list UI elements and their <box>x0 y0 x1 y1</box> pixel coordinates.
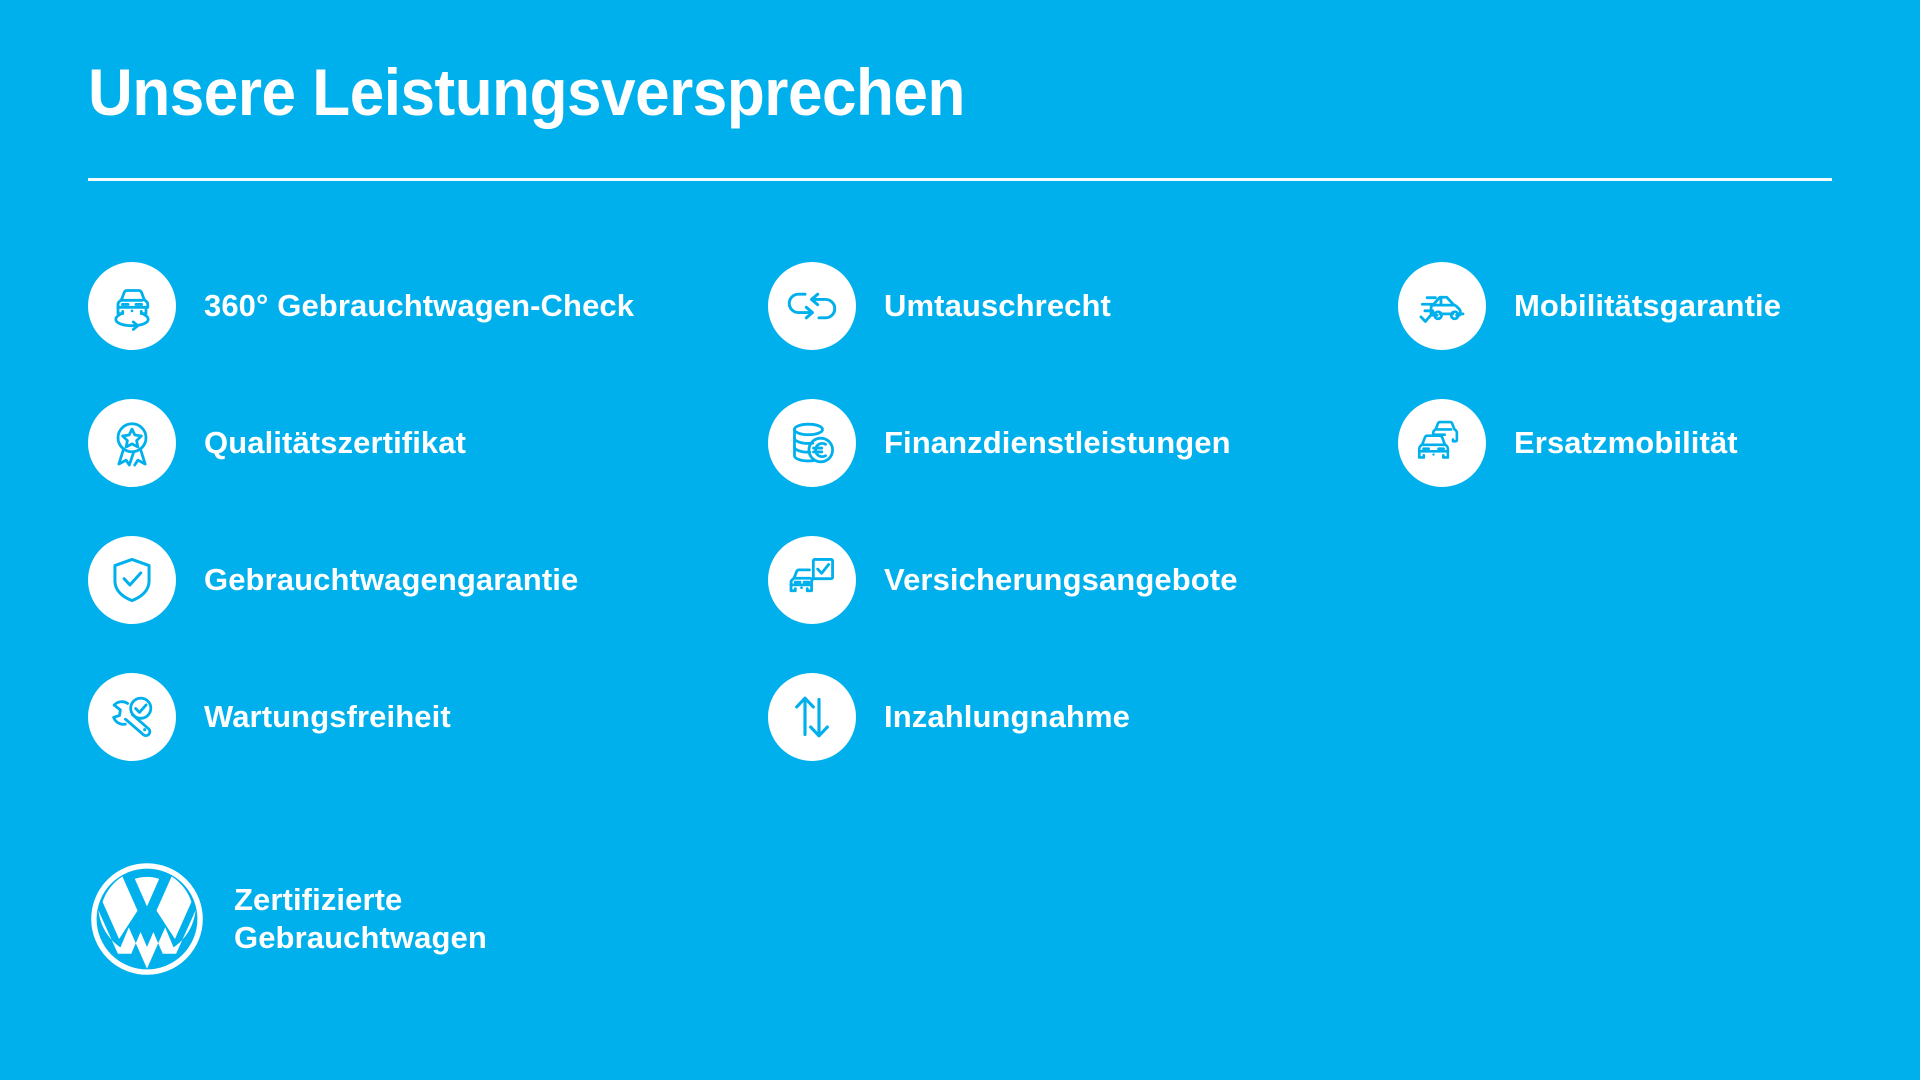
feature-label: Wartungsfreiheit <box>204 699 451 735</box>
feature-item-ersatzmobilitaet[interactable]: Ersatzmobilität <box>1398 399 1848 487</box>
feature-column-2: Umtauschrecht Finanzdienstleistungen <box>768 262 1398 761</box>
car-checkbox-icon <box>768 536 856 624</box>
feature-item-inzahlungnahme[interactable]: Inzahlungnahme <box>768 673 1398 761</box>
two-cars-icon <box>1398 399 1486 487</box>
feature-label: Inzahlungnahme <box>884 699 1130 735</box>
feature-label: Finanzdienstleistungen <box>884 425 1231 461</box>
brand-text: Zertifizierte Gebrauchtwagen <box>234 881 487 957</box>
feature-label: Versicherungsangebote <box>884 562 1238 598</box>
feature-item-finanzdienstleistungen[interactable]: Finanzdienstleistungen <box>768 399 1398 487</box>
slide-root: Unsere Leistungsversprechen <box>0 0 1920 1080</box>
feature-columns: 360° Gebrauchtwagen-Check Qualitätszerti… <box>88 262 1848 761</box>
page-title: Unsere Leistungsversprechen <box>88 58 1727 127</box>
feature-label: 360° Gebrauchtwagen-Check <box>204 288 634 324</box>
coins-euro-icon <box>768 399 856 487</box>
exchange-arrows-icon <box>768 262 856 350</box>
feature-label: Gebrauchtwagengarantie <box>204 562 578 598</box>
title-divider <box>88 178 1832 181</box>
wrench-check-icon <box>88 673 176 761</box>
feature-label: Umtauschrecht <box>884 288 1111 324</box>
header: Unsere Leistungsversprechen <box>88 58 1832 127</box>
feature-item-wartungsfreiheit[interactable]: Wartungsfreiheit <box>88 673 768 761</box>
feature-label: Mobilitätsgarantie <box>1514 288 1781 324</box>
car-motion-check-icon <box>1398 262 1486 350</box>
feature-item-qualitaetszertifikat[interactable]: Qualitätszertifikat <box>88 399 768 487</box>
award-ribbon-star-icon <box>88 399 176 487</box>
feature-column-3: Mobilitätsgarantie <box>1398 262 1848 487</box>
feature-column-1: 360° Gebrauchtwagen-Check Qualitätszerti… <box>88 262 768 761</box>
car-360-check-icon <box>88 262 176 350</box>
feature-item-versicherungsangebote[interactable]: Versicherungsangebote <box>768 536 1398 624</box>
feature-item-mobilitaetsgarantie[interactable]: Mobilitätsgarantie <box>1398 262 1848 350</box>
brand-footer: Zertifizierte Gebrauchtwagen <box>88 860 487 978</box>
shield-check-icon <box>88 536 176 624</box>
feature-item-gebrauchtwagengarantie[interactable]: Gebrauchtwagengarantie <box>88 536 768 624</box>
feature-label: Ersatzmobilität <box>1514 425 1738 461</box>
feature-item-umtauschrecht[interactable]: Umtauschrecht <box>768 262 1398 350</box>
feature-label: Qualitätszertifikat <box>204 425 466 461</box>
arrows-up-down-icon <box>768 673 856 761</box>
vw-logo <box>88 860 206 978</box>
feature-item-360-check[interactable]: 360° Gebrauchtwagen-Check <box>88 262 768 350</box>
